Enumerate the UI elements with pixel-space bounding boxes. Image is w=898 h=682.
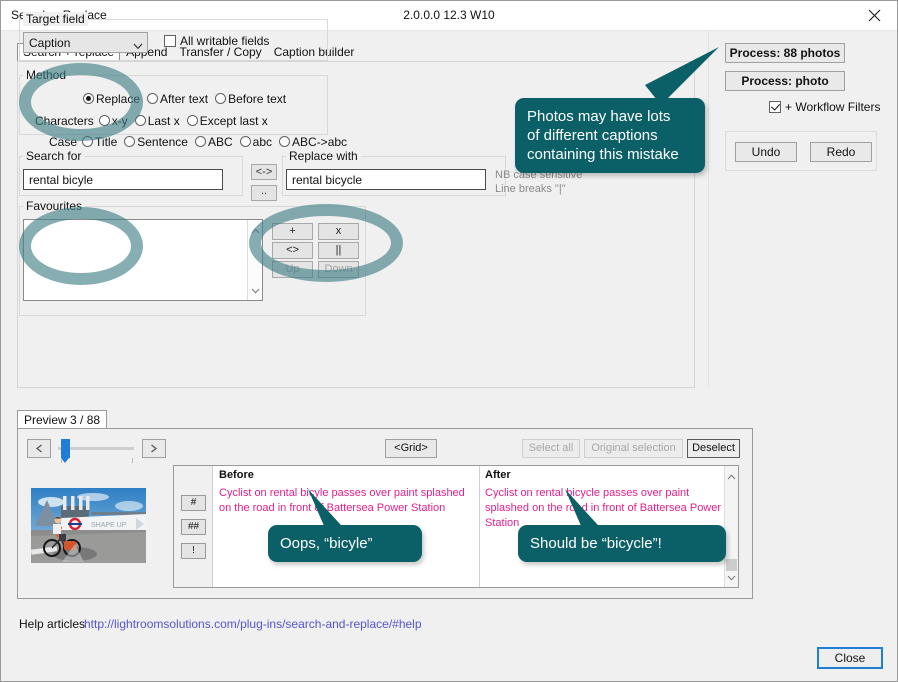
replace-with-label: Replace with (286, 149, 361, 163)
svg-text:SHAPE UP: SHAPE UP (91, 522, 127, 529)
original-selection-button: Original selection (584, 439, 683, 458)
radio-replace-label: Replace (96, 92, 140, 106)
radio-chars-except-last-x-label: Except last x (200, 114, 268, 128)
radio-dot-icon (240, 136, 251, 147)
method-row-case: CaseTitleSentenceABCabcABC->abc (49, 135, 354, 149)
favourites-up-button: Up (272, 261, 313, 278)
workflow-filters-label: + Workflow Filters (785, 100, 880, 114)
row-exclaim-button[interactable]: ! (181, 543, 206, 559)
radio-chars-xy[interactable]: x-y (99, 114, 128, 128)
callout-text-3: Should be “bicycle”! (518, 525, 726, 562)
swap-fields-button[interactable]: <-> (251, 164, 277, 180)
radio-after-text-label: After text (160, 92, 208, 106)
before-header: Before (219, 469, 254, 481)
deselect-button[interactable]: Deselect (687, 439, 740, 458)
method-row-characters: Charactersx-yLast xExcept last x (35, 114, 275, 128)
callout-text-1: Photos may have lots of different captio… (515, 98, 705, 173)
slider-tick (61, 458, 62, 463)
checkbox-box-icon (164, 35, 176, 47)
slider-tick (132, 458, 133, 463)
preview-slider-thumb[interactable] (61, 439, 70, 458)
target-field-select[interactable]: Caption (23, 32, 148, 53)
close-button[interactable]: Close (817, 647, 883, 669)
checkbox-checked-icon (769, 101, 781, 113)
radio-dot-icon (135, 115, 146, 126)
chevron-up-icon[interactable] (727, 469, 736, 483)
help-articles-label: Help articles (19, 617, 85, 631)
search-replace-window: Search + Replace 2.0.0.0 12.3 W10 Search… (0, 0, 898, 682)
undo-button[interactable]: Undo (735, 142, 797, 162)
radio-dot-icon (195, 136, 206, 147)
preview-next-button[interactable] (142, 439, 166, 458)
row-double-number-button[interactable]: ## (181, 519, 206, 535)
favourites-delete-button[interactable]: x (318, 223, 359, 240)
radio-case-upper-label: ABC (208, 135, 233, 149)
close-x-icon (868, 9, 881, 22)
note-line-breaks: Line breaks "|" (495, 182, 582, 196)
radio-case-lower-label: abc (253, 135, 272, 149)
all-writable-fields-label: All writable fields (180, 34, 269, 48)
radio-dot-icon (279, 136, 290, 147)
chevron-down-icon[interactable] (727, 570, 736, 584)
radio-case-upper-to-lower[interactable]: ABC->abc (279, 135, 347, 149)
before-after-scrollbar[interactable] (724, 466, 738, 587)
redo-button[interactable]: Redo (810, 142, 872, 162)
radio-case-upper-to-lower-label: ABC->abc (292, 135, 347, 149)
radio-dot-icon (187, 115, 198, 126)
radio-case-title-label: Title (95, 135, 117, 149)
case-label: Case (49, 135, 77, 149)
method-row-mode: ReplaceAfter textBefore text (83, 92, 293, 106)
favourites-scrollbar[interactable] (247, 220, 262, 300)
grid-button[interactable]: <Grid> (385, 439, 437, 458)
radio-chars-except-last-x[interactable]: Except last x (187, 114, 268, 128)
chevron-down-icon[interactable] (251, 283, 260, 297)
preview-thumbnail[interactable]: SHAPE UP (31, 488, 146, 563)
radio-dot-icon (215, 93, 226, 104)
workflow-filters-checkbox[interactable]: + Workflow Filters (769, 100, 880, 114)
radio-dot-icon (82, 136, 93, 147)
favourites-swap-button[interactable]: <> (272, 242, 313, 259)
radio-dot-icon (83, 93, 94, 104)
preview-prev-button[interactable] (27, 439, 51, 458)
preview-tab[interactable]: Preview 3 / 88 (17, 410, 107, 429)
radio-case-lower[interactable]: abc (240, 135, 272, 149)
favourites-add-button[interactable]: + (272, 223, 313, 240)
callout-bubble-captions: Photos may have lots of different captio… (515, 98, 705, 173)
close-window-button[interactable] (852, 1, 897, 29)
callout-text-2: Oops, “bicyle” (268, 525, 422, 562)
radio-before-text[interactable]: Before text (215, 92, 286, 106)
radio-dot-icon (99, 115, 110, 126)
radio-chars-last-x-label: Last x (148, 114, 180, 128)
radio-dot-icon (147, 93, 158, 104)
search-for-label: Search for (23, 149, 84, 163)
row-number-button[interactable]: # (181, 495, 206, 511)
target-field-label: Target field (23, 12, 88, 26)
process-single-photo-button[interactable]: Process: photo (725, 71, 845, 91)
radio-chars-last-x[interactable]: Last x (135, 114, 180, 128)
method-label: Method (23, 68, 69, 82)
radio-case-title[interactable]: Title (82, 135, 117, 149)
radio-case-sentence-label: Sentence (137, 135, 188, 149)
favourites-label: Favourites (23, 199, 85, 213)
more-options-button[interactable]: .. (251, 185, 277, 201)
select-all-button: Select all (522, 439, 580, 458)
radio-case-upper[interactable]: ABC (195, 135, 233, 149)
search-for-value: rental bicyle (29, 173, 93, 187)
replace-with-value: rental bicycle (292, 173, 362, 187)
row-tools-column: # ## ! (174, 466, 213, 587)
radio-after-text[interactable]: After text (147, 92, 208, 106)
favourites-down-button: Down (318, 261, 359, 278)
callout-bubble-should-be: Should be “bicycle”! (518, 525, 726, 562)
after-header: After (485, 469, 511, 481)
process-all-photos-button[interactable]: Process: 88 photos (725, 43, 845, 63)
radio-replace[interactable]: Replace (83, 92, 140, 106)
chevron-down-icon (133, 39, 143, 53)
radio-dot-icon (124, 136, 135, 147)
radio-case-sentence[interactable]: Sentence (124, 135, 188, 149)
callout-bubble-oops: Oops, “bicyle” (268, 525, 422, 562)
chevron-up-icon[interactable] (251, 223, 260, 237)
favourites-separator-button[interactable]: || (318, 242, 359, 259)
help-articles-link[interactable]: http://lightroomsolutions.com/plug-ins/s… (84, 617, 422, 631)
radio-chars-xy-label: x-y (112, 114, 128, 128)
characters-label: Characters (35, 114, 94, 128)
target-field-value: Caption (29, 36, 70, 50)
favourites-list[interactable] (23, 219, 263, 301)
radio-before-text-label: Before text (228, 92, 286, 106)
search-for-input[interactable]: rental bicyle (23, 169, 223, 190)
all-writable-fields-checkbox[interactable]: All writable fields (164, 34, 269, 48)
replace-with-input[interactable]: rental bicycle (286, 169, 486, 190)
